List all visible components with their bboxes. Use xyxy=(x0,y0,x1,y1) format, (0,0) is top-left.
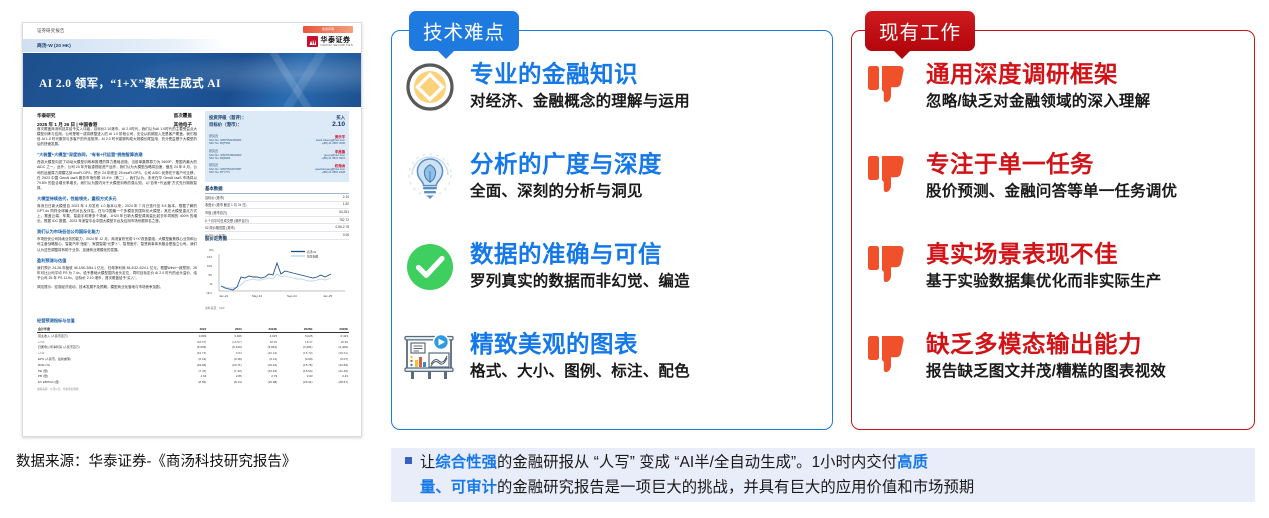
list-item-subtitle: 股价预测、金融问答等单一任务调优 xyxy=(926,181,1177,203)
chart-ytick: 11 xyxy=(210,282,213,286)
rating-row: 投资评级（首评）： 买入 xyxy=(209,115,345,121)
bullet-square-icon xyxy=(405,457,412,464)
summary-callout: 让综合性强的金融研报从 “人写” 变成 “AI半/全自动生成”。1小时内交付高质… xyxy=(391,448,1255,502)
chart-xtick: Jan-24 xyxy=(219,294,229,298)
report-meta-right: 首次覆盖 xyxy=(174,113,192,119)
chart-legend-1: 商汤-W xyxy=(307,250,317,254)
contact-tel: +(86) 21 3847 6016 xyxy=(321,157,345,160)
list-item-subtitle: 报告缺乏图文并茂/糟糕的图表视效 xyxy=(926,361,1166,383)
chart-legend-2: 恒生指数 xyxy=(307,254,318,258)
figure-caption: 数据来源：华泰证券-《商汤科技研究报告》 xyxy=(16,450,296,471)
cell: (15.98) xyxy=(243,379,278,385)
basic-row: 6 个月平均日成交额 (港币百万)762.72 xyxy=(205,217,349,225)
callout-seg: 的金融研究报告是一项巨大的挑战，并具有巨大的应用价值和市场预期 xyxy=(497,479,974,496)
table-row: EV EBITDA (倍)(8.56)(8.14)(15.98)(20.41)(… xyxy=(37,379,349,385)
basic-val: 2.10 xyxy=(343,195,349,200)
slide-root: 证券研究报告 商汤-W (20 HK) 免责声明 华泰证券 HUATAI SEC… xyxy=(0,0,1269,518)
contact-entry: 研究员 李昌镐 SAC No. S0570518040003 guoyu@hts… xyxy=(209,149,345,160)
panel-existing-work: 现有工作 通用深度调研框架 忽略/缺乏对金融领域的深入理解 xyxy=(851,30,1255,430)
callout-highlight: 综合性强 xyxy=(435,454,497,471)
report-title-banner: AI 2.0 领军，“1+X”聚焦生成式 AI xyxy=(23,53,361,107)
list-item-title: 专注于单一任务 xyxy=(926,149,1177,179)
report-kicker: 证券研究报告 xyxy=(37,28,65,34)
existing-work-list: 通用深度调研框架 忽略/缺乏对金融领域的深入理解 专注于单一任务 股价预测、金融… xyxy=(852,57,1254,417)
report-meta-row: 华泰研究 首次覆盖 xyxy=(37,113,192,119)
report-paragraph: 首次覆盖商汤科技并给予买入评级，目标价2.10港币。AI 2.0时代，我们认为A… xyxy=(37,127,197,147)
rating-label: 投资评级（首评）： xyxy=(209,115,246,121)
report-brand-en: HUATAI SECURITIES xyxy=(320,44,353,47)
target-price-label: 目标价（港币）： xyxy=(209,122,242,129)
rating-row: 目标价（港币）： 2.10 xyxy=(209,122,345,129)
basic-row: 目标价 (港币)2.10 xyxy=(205,194,349,202)
basic-val: 1.52 xyxy=(343,202,349,207)
report-rating-box: 投资评级（首评）： 买入 目标价（港币）： 2.10 xyxy=(205,111,349,133)
presentation-chart-icon xyxy=(402,329,458,385)
forecast-table-caption: 经营预测指标与估值 xyxy=(37,318,349,324)
report-stock-name: 商汤-W (20 HK) xyxy=(37,42,71,49)
contact-sfc: SFC No. BTY773 xyxy=(209,171,230,174)
huatai-logo-icon xyxy=(307,36,318,47)
callout-seg: 的金融研报从 “人写” 变成 “AI半/全自动生成”。1小时内交付 xyxy=(497,454,897,471)
report-paragraph: 商汤日日新大模型自 2023 年 4 月发布 1.0 版本以来，2024 年 7… xyxy=(37,204,197,224)
list-item: 真实场景表现不佳 基于实验数据集优化而非实际生产 xyxy=(866,237,1244,327)
report-meta-left: 华泰研究 xyxy=(37,113,55,119)
green-check-icon xyxy=(402,239,458,295)
contact-tel: +(86) 21 2897 2228 xyxy=(321,171,345,174)
list-item: 专业的金融知识 对经济、金融概念的理解与运用 xyxy=(402,57,822,147)
report-paragraph: 我们预计 24-26 年营收 46.1/60.3/84.1 亿元，归母净利润 3… xyxy=(37,266,197,281)
list-item: 通用深度调研框架 忽略/缺乏对金融领域的深入理解 xyxy=(866,57,1244,147)
cell: (28.57) xyxy=(314,379,349,385)
list-item: 缺乏多模态输出能力 报告缺乏图文并茂/糟糕的图表视效 xyxy=(866,327,1244,417)
report-paragraph: 风险提示：宏观经济波动，技术发展不及预期，模型商业化落地与市场竞争加剧。 xyxy=(37,285,197,290)
contact-entry: 研究员 权海洲 SAC No. S0570524070087 quanhaoya… xyxy=(209,163,345,174)
list-item-subtitle: 对经济、金融概念的理解与运用 xyxy=(470,91,690,113)
list-item: 专注于单一任务 股价预测、金融问答等单一任务调优 xyxy=(866,147,1244,237)
list-item-subtitle: 忽略/缺乏对金融领域的深入理解 xyxy=(926,91,1150,113)
report-page: 证券研究报告 商汤-W (20 HK) 免责声明 华泰证券 HUATAI SEC… xyxy=(22,22,362,437)
contact-sfc: SFC No. BQT506 xyxy=(209,142,230,145)
report-title: AI 2.0 领军，“1+X”聚焦生成式 AI xyxy=(39,75,221,91)
report-heading: 盈利预测与估值 xyxy=(37,258,197,264)
contact-line: SFC No. BQR364 +(86) 21 3847 6016 xyxy=(209,157,345,160)
report-heading: 我们认为市场低估公司国际化能力 xyxy=(37,229,197,235)
chart-ytick: (37) xyxy=(207,291,212,295)
report-brand-text: 华泰证券 HUATAI SECURITIES xyxy=(320,37,353,47)
chart-xtick: May-24 xyxy=(252,294,262,298)
research-report-figure: 证券研究报告 商汤-W (20 HK) 免责声明 华泰证券 HUATAI SEC… xyxy=(16,22,368,492)
chart-ylabel: (%) xyxy=(209,248,214,252)
basic-key: 52 周价格范围 (港币) xyxy=(205,225,235,230)
report-paragraph: 西游大模型向述了动动大模型训练和推理的算力基础设施，当前单集群算力为 9400P… xyxy=(37,160,197,191)
cell: EV EBITDA (倍) xyxy=(37,379,172,385)
gold-coin-icon xyxy=(402,59,458,115)
basic-data-title: 基本数据 xyxy=(205,186,349,194)
list-item-title: 分析的广度与深度 xyxy=(470,149,662,179)
list-item-subtitle: 罗列真实的数据而非幻觉、编造 xyxy=(470,271,690,293)
report-logo-tab: 免责声明 xyxy=(303,26,353,33)
callout-seg: 让 xyxy=(420,454,435,471)
stock-price-chart: (%) 154 106 59 11 (37) 商汤-W 恒生指数 Jan-24 … xyxy=(205,244,349,304)
basic-val: 0.05 xyxy=(343,233,349,238)
lightbulb-icon xyxy=(402,149,458,205)
contact-entry: 研究员 黄乐平 SAC No. S0570521050001 stock.mik… xyxy=(209,134,345,145)
report-paragraph: 市场担忧公司持续业务的能力，2024 年 12 月，商汤宣布完成“1+X”改造重… xyxy=(37,237,197,252)
list-item-text: 通用深度调研框架 忽略/缺乏对金融领域的深入理解 xyxy=(926,57,1150,113)
basic-row: 收盘价 (港币 截至 1 月 24 日)1.52 xyxy=(205,202,349,210)
list-item-subtitle: 基于实验数据集优化而非实际生产 xyxy=(926,271,1162,293)
thumbs-down-icon xyxy=(866,149,910,205)
cell: (20.41) xyxy=(278,379,313,385)
list-item-subtitle: 格式、大小、图例、标注、配色 xyxy=(470,361,690,383)
cell: (8.14) xyxy=(207,379,242,385)
list-item-text: 精致美观的图表 格式、大小、图例、标注、配色 xyxy=(470,327,690,383)
contact-line: SFC No. BQT506 +(86) 21 2897 2030 xyxy=(209,142,345,145)
thumbs-down-icon xyxy=(866,329,910,385)
report-heading: 大模型持续迭代，性能领先，重视方式多元 xyxy=(37,196,197,202)
list-item-text: 缺乏多模态输出能力 报告缺乏图文并茂/糟糕的图表视效 xyxy=(926,327,1166,383)
report-contacts: 研究员 黄乐平 SAC No. S0570521050001 stock.mik… xyxy=(205,131,349,182)
list-item: 分析的广度与深度 全面、深刻的分析与洞见 xyxy=(402,147,822,237)
list-item-title: 通用深度调研框架 xyxy=(926,59,1150,89)
basic-val: 762.72 xyxy=(339,218,349,223)
panel-technical-challenges: 技术难点 专业的金融知识 对经济、金融概念的理解与运用 xyxy=(391,30,833,430)
report-forecast-table: 经营预测指标与估值 会计年度 2022 2023 2024E 2025E 202… xyxy=(37,318,349,391)
contact-sfc: SFC No. BQR364 xyxy=(209,157,230,160)
list-item-title: 精致美观的图表 xyxy=(470,329,690,359)
basic-row: 市值 (港币百万)54,251 xyxy=(205,209,349,217)
forecast-table: 会计年度 2022 2023 2024E 2025E 2026E 营业收入 (人… xyxy=(37,326,349,385)
panel-right-tag: 现有工作 xyxy=(865,11,975,51)
report-heading: “大装置+大模型”深度协同，“有有+代运营”拥抱智算浪潮 xyxy=(37,152,197,158)
chart-xtick: Sep-24 xyxy=(287,294,297,298)
list-item-title: 数据的准确与可信 xyxy=(470,239,690,269)
callout-highlight: 高质 xyxy=(897,454,928,471)
challenge-list: 专业的金融知识 对经济、金融概念的理解与运用 xyxy=(392,57,832,417)
chart-ytick: 106 xyxy=(207,264,212,268)
stock-chart-title: 股价走势图 xyxy=(205,236,227,242)
panel-left-tag: 技术难点 xyxy=(409,11,519,51)
callout-text: 让综合性强的金融研报从 “人写” 变成 “AI半/全自动生成”。1小时内交付高质… xyxy=(420,450,974,500)
stock-chart-source: 资料来源：S&P xyxy=(205,306,225,310)
list-item-subtitle: 全面、深刻的分析与洞见 xyxy=(470,181,662,203)
basic-row: 52 周价格范围 (港币)0.56-2.78 xyxy=(205,224,349,232)
list-item-title: 专业的金融知识 xyxy=(470,59,690,89)
report-logo-tab-label: 免责声明 xyxy=(303,26,353,33)
chart-ytick: 154 xyxy=(207,255,212,259)
list-item-title: 缺乏多模态输出能力 xyxy=(926,329,1166,359)
basic-key: 目标价 (港币) xyxy=(205,195,224,200)
chart-xtick: Jan-25 xyxy=(323,294,333,298)
basic-val: 0.56-2.78 xyxy=(336,225,349,230)
stock-chart-svg: (%) 154 106 59 11 (37) 商汤-W 恒生指数 Jan-24 … xyxy=(205,244,349,304)
list-item-text: 专注于单一任务 股价预测、金融问答等单一任务调优 xyxy=(926,147,1177,203)
contact-tel: +(86) 21 2897 2030 xyxy=(321,142,345,145)
list-item-text: 分析的广度与深度 全面、深刻的分析与洞见 xyxy=(470,147,662,203)
list-item-text: 真实场景表现不佳 基于实验数据集优化而非实际生产 xyxy=(926,237,1162,293)
contact-line: SFC No. BTY773 +(86) 21 2897 2228 xyxy=(209,171,345,174)
basic-key: 收盘价 (港币 截至 1 月 24 日) xyxy=(205,202,246,207)
basic-key: 6 个月平均日成交额 (港币百万) xyxy=(205,218,249,223)
callout-highlight: 量、可审计 xyxy=(420,479,497,496)
thumbs-down-icon xyxy=(866,239,910,295)
list-item: 精致美观的图表 格式、大小、图例、标注、配色 xyxy=(402,327,822,417)
table-footnote: 资料来源：公司公告、华泰研究预测 xyxy=(37,387,349,391)
report-basic-data: 基本数据 目标价 (港币)2.10 收盘价 (港币 截至 1 月 24 日)1.… xyxy=(205,186,349,240)
cell: (8.56) xyxy=(172,379,207,385)
report-body: 首次覆盖商汤科技并给予买入评级，目标价2.10港币。AI 2.0时代，我们认为A… xyxy=(37,127,197,294)
list-item: 数据的准确与可信 罗列真实的数据而非幻觉、编造 xyxy=(402,237,822,327)
basic-key: 市值 (港币百万) xyxy=(205,210,227,215)
list-item-text: 专业的金融知识 对经济、金融概念的理解与运用 xyxy=(470,57,690,113)
basic-val: 54,251 xyxy=(339,210,349,215)
list-item-title: 真实场景表现不佳 xyxy=(926,239,1162,269)
list-item-text: 数据的准确与可信 罗列真实的数据而非幻觉、编造 xyxy=(470,237,690,293)
report-brand-logo: 华泰证券 HUATAI SECURITIES xyxy=(307,36,353,47)
chart-ytick: 59 xyxy=(209,273,213,277)
target-price-value: 2.10 xyxy=(332,122,345,129)
thumbs-down-icon xyxy=(866,59,910,115)
